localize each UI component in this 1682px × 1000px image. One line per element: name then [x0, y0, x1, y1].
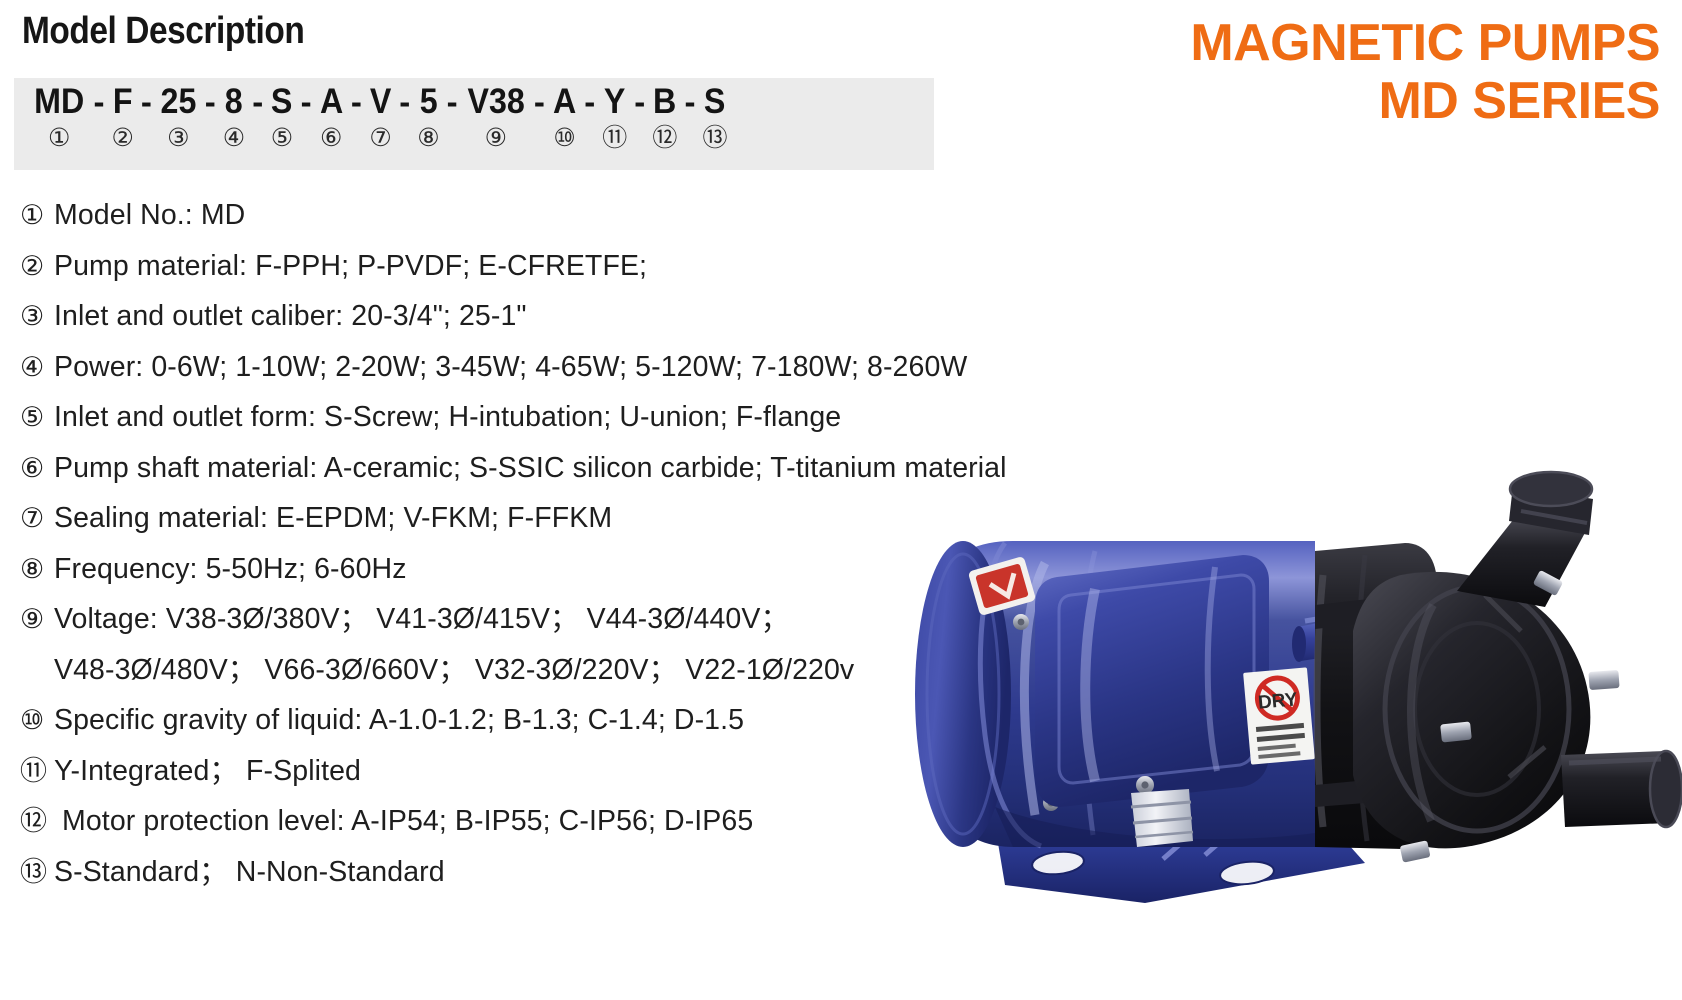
model-code-separator: - [527, 82, 552, 122]
cable-gland [1131, 789, 1193, 847]
spec-line: ③Inlet and outlet caliber: 20-3/4"; 25-1… [20, 291, 1140, 342]
spec-index: ① [20, 190, 54, 241]
model-code-value: Y [604, 82, 625, 122]
spec-index: ⑤ [20, 392, 54, 443]
spec-text: V48-3Ø/480V； V66-3Ø/660V； V32-3Ø/220V； V… [54, 654, 854, 686]
model-code-token: B⑫ [652, 82, 677, 152]
junction-box [1035, 555, 1269, 807]
spec-text: Pump material: F-PPH; P-PVDF; E-CFRETFE; [54, 250, 647, 282]
model-code-separator: - [198, 82, 223, 122]
model-code-index: ⑬ [703, 124, 728, 152]
spec-text: Voltage: V38-3Ø/380V； V41-3Ø/415V； V44-3… [54, 603, 789, 635]
spec-index: ⑫ [20, 796, 54, 847]
model-code-value: A [553, 82, 576, 122]
model-code-index: ④ [223, 124, 245, 152]
product-title-line2: MD SERIES [1190, 72, 1660, 130]
model-code-separator: - [627, 82, 652, 122]
side-outlet-port [1561, 751, 1682, 827]
model-code-token: A⑥ [319, 82, 344, 152]
spec-index: ⑨ [20, 594, 54, 645]
spec-text: Model No.: MD [54, 199, 245, 231]
spec-text: Inlet and outlet form: S-Screw; H-intuba… [54, 401, 841, 433]
product-title: MAGNETIC PUMPS MD SERIES [1190, 14, 1660, 130]
model-code-index: ⑥ [320, 124, 342, 152]
spec-text: S-Standard； N-Non-Standard [54, 856, 445, 888]
model-code-token: F② [111, 82, 133, 152]
spec-index: ③ [20, 291, 54, 342]
model-code-separator: - [344, 82, 369, 122]
spec-index: ④ [20, 342, 54, 393]
model-code-separator: - [678, 82, 703, 122]
spec-line: ②Pump material: F-PPH; P-PVDF; E-CFRETFE… [20, 241, 1140, 292]
model-code-index: ① [48, 124, 70, 152]
spec-index: ⑧ [20, 544, 54, 595]
model-code-row: MD①-F②-25③-8④-S⑤-A⑥-V⑦-5⑧-V38⑨-A⑩-Y⑪-B⑫-… [14, 82, 934, 152]
model-code-index: ⑪ [602, 124, 627, 152]
model-code-index: ③ [167, 124, 189, 152]
model-code-value: 25 [160, 82, 196, 122]
model-code-value: A [320, 82, 343, 122]
svg-text:DRY: DRY [1257, 689, 1298, 713]
model-code-index: ⑦ [369, 124, 391, 152]
spec-line: ④Power: 0-6W; 1-10W; 2-20W; 3-45W; 4-65W… [20, 342, 1140, 393]
model-code-value: B [653, 82, 676, 122]
model-code-token: 8④ [223, 82, 245, 152]
model-code-strip: MD①-F②-25③-8④-S⑤-A⑥-V⑦-5⑧-V38⑨-A⑩-Y⑪-B⑫-… [14, 78, 934, 170]
model-code-separator: - [577, 82, 602, 122]
model-code-value: V [370, 82, 391, 122]
spec-text: Frequency: 5-50Hz; 6-60Hz [54, 553, 407, 585]
model-code-separator: - [392, 82, 417, 122]
model-code-token: MD① [32, 82, 86, 152]
model-code-index: ⑧ [417, 124, 439, 152]
model-code-token: 5⑧ [417, 82, 439, 152]
spec-text: Inlet and outlet caliber: 20-3/4"; 25-1" [54, 300, 527, 332]
spec-index: ⑥ [20, 443, 54, 494]
model-code-value: 5 [419, 82, 437, 122]
model-code-value: S [704, 82, 725, 122]
model-code-token: V38⑨ [465, 82, 527, 152]
model-code-value: F [113, 82, 133, 122]
spec-text: Y-Integrated； F-Splited [54, 755, 361, 787]
model-code-index: ⑨ [485, 124, 507, 152]
spec-index: ⑩ [20, 695, 54, 746]
model-code-index: ⑤ [271, 124, 293, 152]
spec-line: ⑤Inlet and outlet form: S-Screw; H-intub… [20, 392, 1140, 443]
model-code-token: S⑤ [270, 82, 293, 152]
model-code-index: ② [111, 124, 133, 152]
model-code-separator: - [245, 82, 270, 122]
spec-line: ①Model No.: MD [20, 190, 1140, 241]
spec-index: ⑪ [20, 746, 54, 797]
spec-index: ⑦ [20, 493, 54, 544]
product-title-line1: MAGNETIC PUMPS [1190, 14, 1660, 72]
model-code-index: ⑩ [553, 124, 575, 152]
spec-text: Specific gravity of liquid: A-1.0-1.2; B… [54, 704, 744, 736]
model-code-value: S [271, 82, 292, 122]
model-code-token: 25③ [159, 82, 198, 152]
model-code-value: 8 [225, 82, 243, 122]
model-code-token: V⑦ [369, 82, 392, 152]
page-title: Model Description [22, 10, 304, 53]
model-code-index: ⑫ [652, 124, 677, 152]
model-code-separator: - [440, 82, 465, 122]
spec-text: Power: 0-6W; 1-10W; 2-20W; 3-45W; 4-65W;… [54, 351, 967, 383]
spec-index: ② [20, 241, 54, 292]
model-code-separator: - [294, 82, 319, 122]
model-code-value: MD [34, 82, 84, 122]
model-code-token: A⑩ [552, 82, 577, 152]
spec-text: Sealing material: E-EPDM; V-FKM; F-FFKM [54, 502, 612, 534]
product-photo: DRY [845, 455, 1682, 955]
top-outlet-port [1457, 472, 1593, 607]
warning-label-dry: DRY [1243, 667, 1315, 764]
model-code-value: V38 [467, 82, 524, 122]
model-code-separator: - [134, 82, 159, 122]
spec-index: ⑬ [20, 847, 54, 898]
model-code-separator: - [86, 82, 111, 122]
model-code-token: Y⑪ [602, 82, 627, 152]
model-code-token: S⑬ [703, 82, 728, 152]
spec-text: Motor protection level: A-IP54; B-IP55; … [54, 805, 753, 837]
